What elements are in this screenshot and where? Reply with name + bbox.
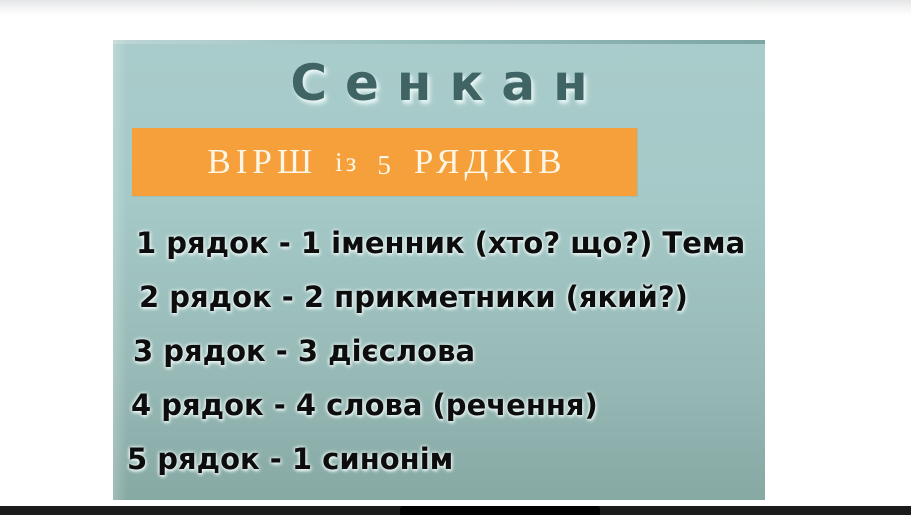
page-top-gradient: [0, 0, 911, 16]
banner-word-virsh: ВІРШ: [202, 142, 317, 182]
banner-number-5: 5: [372, 150, 396, 181]
subtitle-banner-text: ВІРШіз5РЯДКІВ: [132, 128, 637, 196]
subtitle-banner: ВІРШіз5РЯДКІВ: [132, 128, 637, 196]
list-item: 3 рядок - 3 дієслова: [113, 324, 765, 378]
rules-list: 1 рядок - 1 іменник (хто? що?) Тема 2 ря…: [113, 216, 765, 486]
bottom-letterbox-bar: [0, 506, 911, 515]
slide-title: Сенкан: [113, 52, 765, 114]
content-card: Сенкан ВІРШіз5РЯДКІВ 1 рядок - 1 іменник…: [113, 40, 765, 500]
bottom-bar-notch: [400, 506, 600, 515]
list-item: 5 рядок - 1 синонім: [113, 432, 765, 486]
list-item: 1 рядок - 1 іменник (хто? що?) Тема: [113, 216, 765, 270]
card-top-border: [113, 40, 765, 44]
banner-word-riadkiv: РЯДКІВ: [409, 142, 567, 182]
list-item: 4 рядок - 4 слова (речення): [113, 378, 765, 432]
list-item: 2 рядок - 2 прикметники (який?): [113, 270, 765, 324]
banner-word-iz: із: [330, 147, 359, 178]
slide-root: Сенкан ВІРШіз5РЯДКІВ 1 рядок - 1 іменник…: [0, 0, 911, 515]
